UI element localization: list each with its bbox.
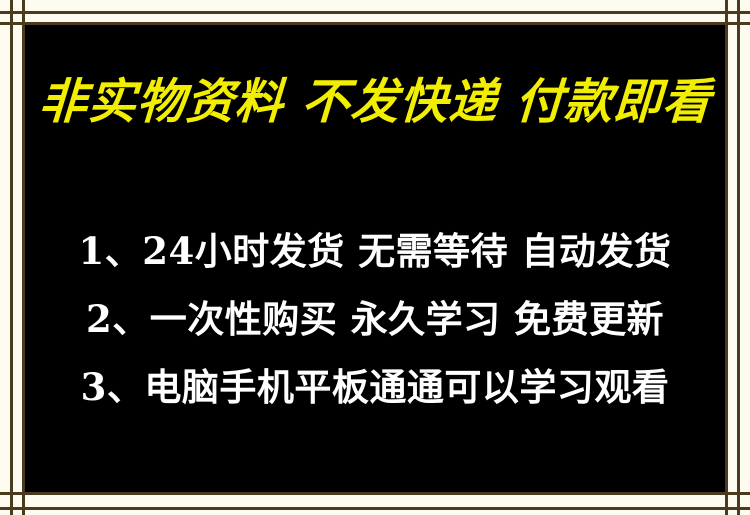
border-line-bottom-inner (0, 492, 750, 495)
border-line-right-outer (737, 0, 740, 515)
notice-list-item-2: 2、一次性购买 永久学习 免费更新 (25, 288, 725, 350)
border-line-left-outer (10, 0, 13, 515)
promo-banner: 非实物资料 不发快递 付款即看 1、24小时发货 无需等待 自动发货 2、一次性… (0, 0, 750, 515)
border-line-bottom-outer (0, 507, 750, 510)
border-line-right-inner (725, 0, 728, 515)
notice-list-item-1: 1、24小时发货 无需等待 自动发货 (25, 220, 725, 282)
headline-text: 非实物资料 不发快递 付款即看 (25, 73, 725, 131)
black-content-panel: 非实物资料 不发快递 付款即看 1、24小时发货 无需等待 自动发货 2、一次性… (25, 25, 725, 492)
notice-list-item-3: 3、电脑手机平板通通可以学习观看 (25, 356, 725, 418)
notice-list: 1、24小时发货 无需等待 自动发货 2、一次性购买 永久学习 免费更新 3、电… (25, 220, 725, 418)
border-line-top-outer (0, 11, 750, 14)
